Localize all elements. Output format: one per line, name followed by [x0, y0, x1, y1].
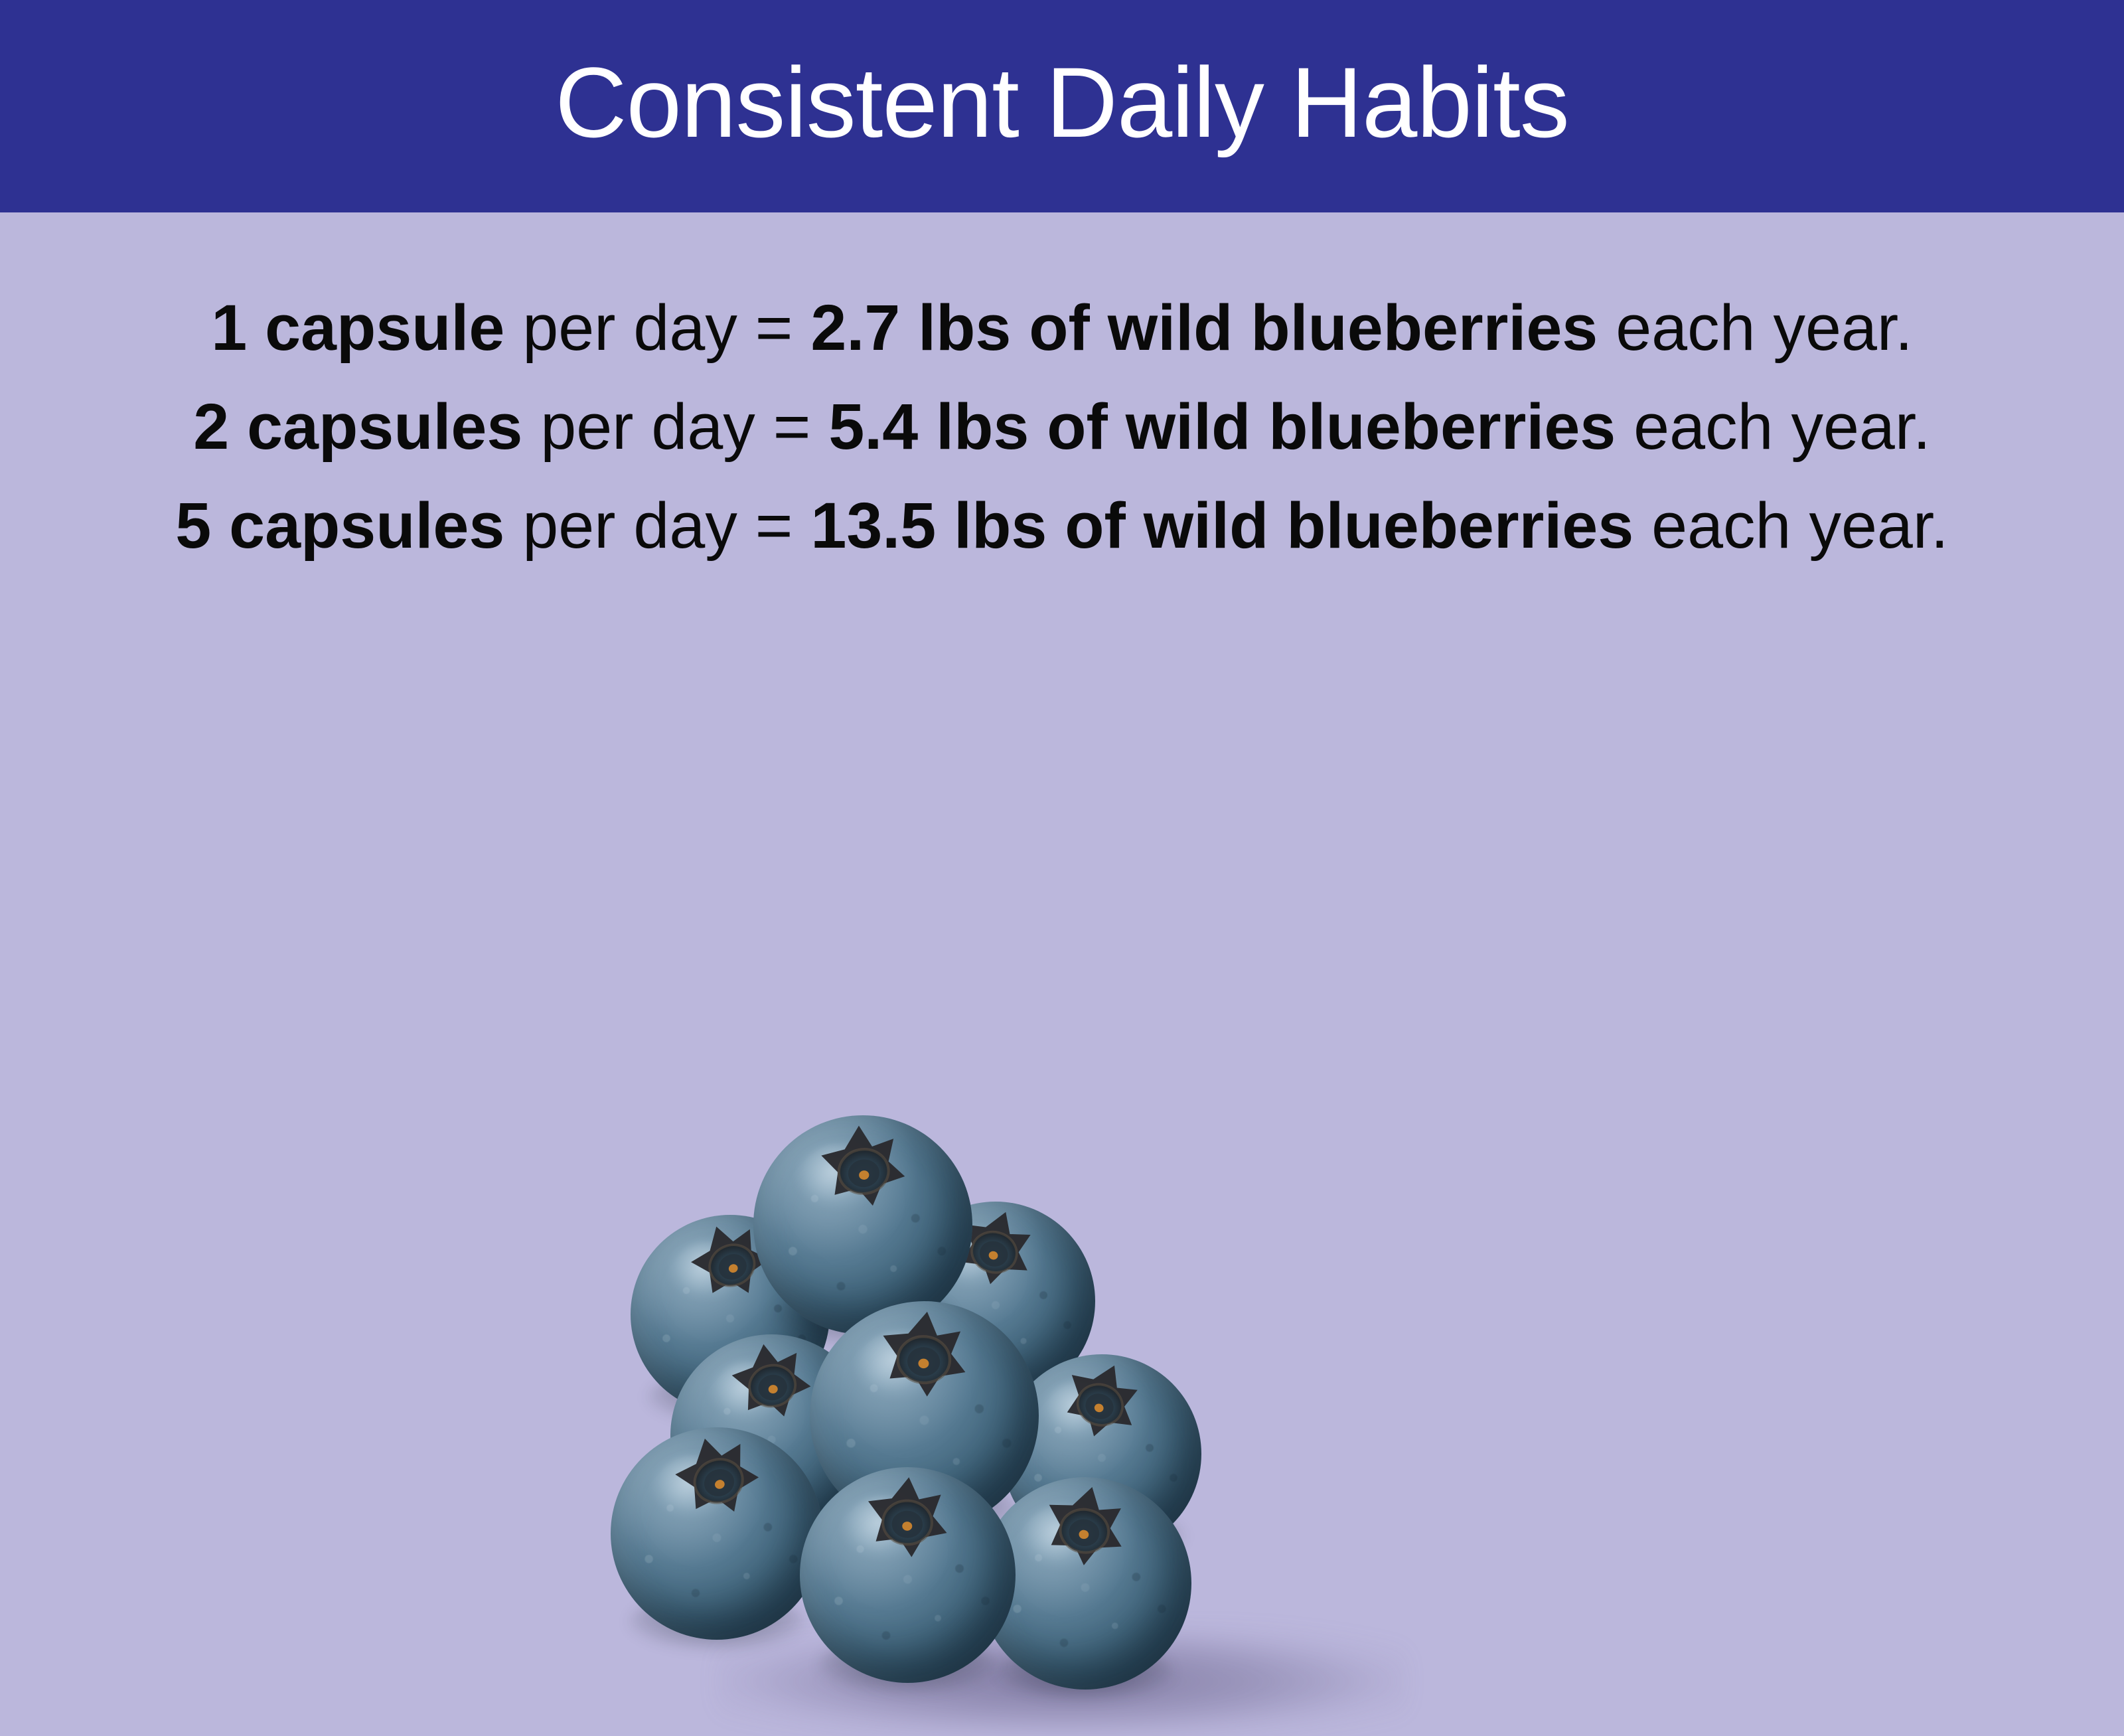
berry-front-center [800, 1467, 1016, 1683]
fact-2-dose: 2 capsules [193, 390, 522, 463]
slide-body: 1 capsule per day = 2.7 lbs of wild blue… [0, 212, 2124, 1593]
berry-calyx [812, 1115, 913, 1216]
fact-line-1: 1 capsule per day = 2.7 lbs of wild blue… [211, 295, 1913, 360]
fact-2-connector: per day = [522, 390, 828, 463]
fact-line-3: 5 capsules per day = 13.5 lbs of wild bl… [175, 493, 1949, 558]
blueberry-pile-image [631, 1115, 1493, 1713]
fact-3-dose: 5 capsules [175, 489, 504, 562]
fact-2-tail: each year. [1616, 390, 1931, 463]
calyx-star-icon [721, 1330, 822, 1431]
fact-1-amount: 2.7 lbs of wild blueberries [810, 291, 1598, 364]
calyx-star-icon [1033, 1474, 1137, 1578]
berry-calyx [873, 1302, 976, 1405]
fact-2-amount: 5.4 lbs of wild blueberries [828, 390, 1616, 463]
page-title: Consistent Daily Habits [555, 52, 1569, 152]
fact-1-dose: 1 capsule [211, 291, 504, 364]
berry-calyx [1033, 1474, 1137, 1578]
calyx-star-icon [812, 1115, 913, 1216]
fact-1-tail: each year. [1598, 291, 1913, 364]
fact-1-connector: per day = [504, 291, 810, 364]
calyx-star-icon [873, 1302, 976, 1405]
fact-3-amount: 13.5 lbs of wild blueberries [810, 489, 1633, 562]
berry-top-center [753, 1115, 972, 1334]
berry-calyx [721, 1330, 822, 1431]
fact-3-connector: per day = [504, 489, 810, 562]
berry-front-left [611, 1427, 823, 1640]
calyx-star-icon [861, 1470, 954, 1563]
berry-calyx [861, 1470, 954, 1563]
fact-line-2: 2 capsules per day = 5.4 lbs of wild blu… [193, 394, 1931, 459]
dosage-fact-list: 1 capsule per day = 2.7 lbs of wild blue… [0, 295, 2124, 558]
slide-header-bar: Consistent Daily Habits [0, 0, 2124, 212]
fact-3-tail: each year. [1633, 489, 1949, 562]
